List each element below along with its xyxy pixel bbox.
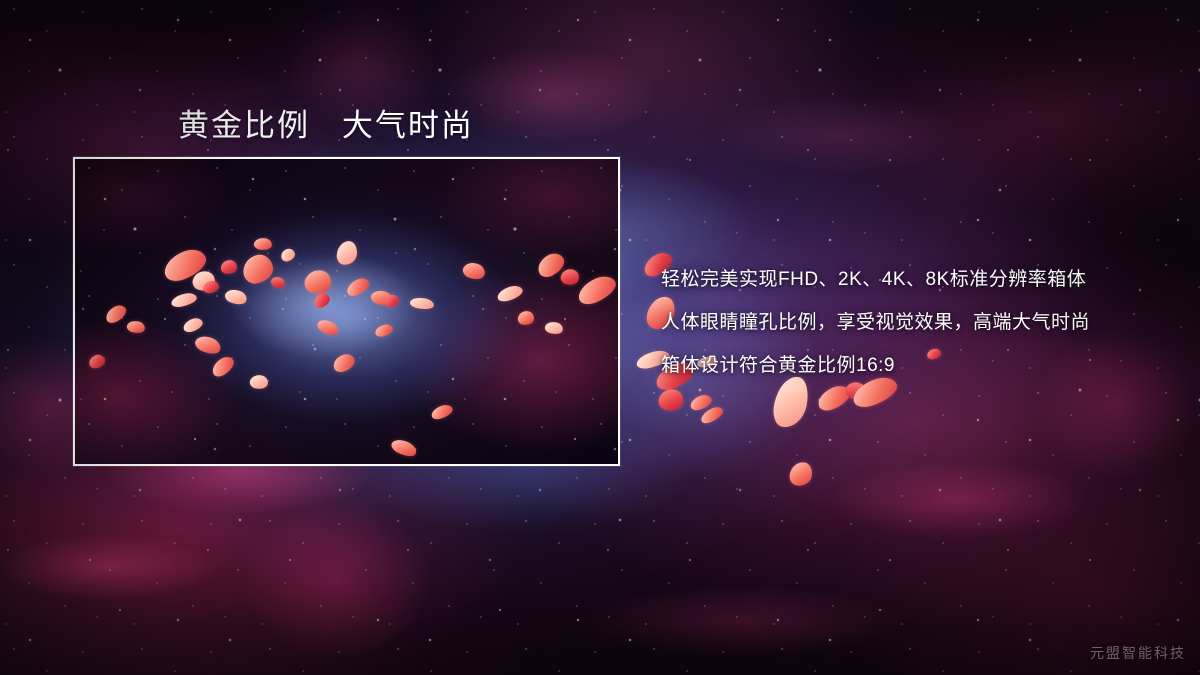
framed-starfield-large xyxy=(75,159,618,464)
image-frame xyxy=(73,157,620,466)
body-line-1: 轻松完美实现FHD、2K、4K、8K标准分辨率箱体 xyxy=(661,258,1161,301)
presentation-slide: 黄金比例 大气时尚 轻松完美实现FHD、2K、4K、8K标准分辨率箱体 人体眼睛… xyxy=(0,0,1200,675)
body-line-2: 人体眼睛瞳孔比例，享受视觉效果，高端大气时尚 xyxy=(661,301,1161,344)
page-title: 黄金比例 大气时尚 xyxy=(178,100,474,145)
body-line-3: 箱体设计符合黄金比例16:9 xyxy=(661,344,1161,387)
image-frame-content xyxy=(75,159,618,464)
watermark: 元盟智能科技 xyxy=(1090,643,1186,663)
body-text-block: 轻松完美实现FHD、2K、4K、8K标准分辨率箱体 人体眼睛瞳孔比例，享受视觉效… xyxy=(661,258,1161,387)
